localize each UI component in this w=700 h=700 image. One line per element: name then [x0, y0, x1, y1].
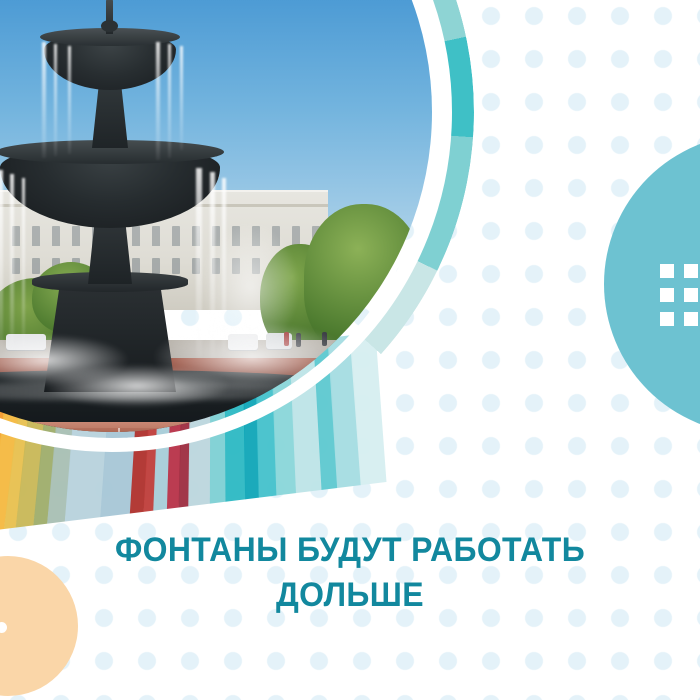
grid-square: [684, 312, 698, 326]
fountain-photo: [0, 0, 432, 432]
fountain-finial-ball: [101, 20, 118, 32]
poster-canvas: ФОНТАНЫ БУДУТ РАБОТАТЬ ДОЛЬШЕ: [0, 0, 700, 700]
white-grid-squares: [660, 264, 700, 326]
grid-square: [660, 288, 674, 302]
fountain-photo-image: [0, 0, 432, 432]
grid-square: [660, 264, 674, 278]
grid-square: [684, 264, 698, 278]
grid-square: [684, 288, 698, 302]
page-title: ФОНТАНЫ БУДУТ РАБОТАТЬ ДОЛЬШЕ: [21, 528, 679, 618]
grid-square: [660, 312, 674, 326]
